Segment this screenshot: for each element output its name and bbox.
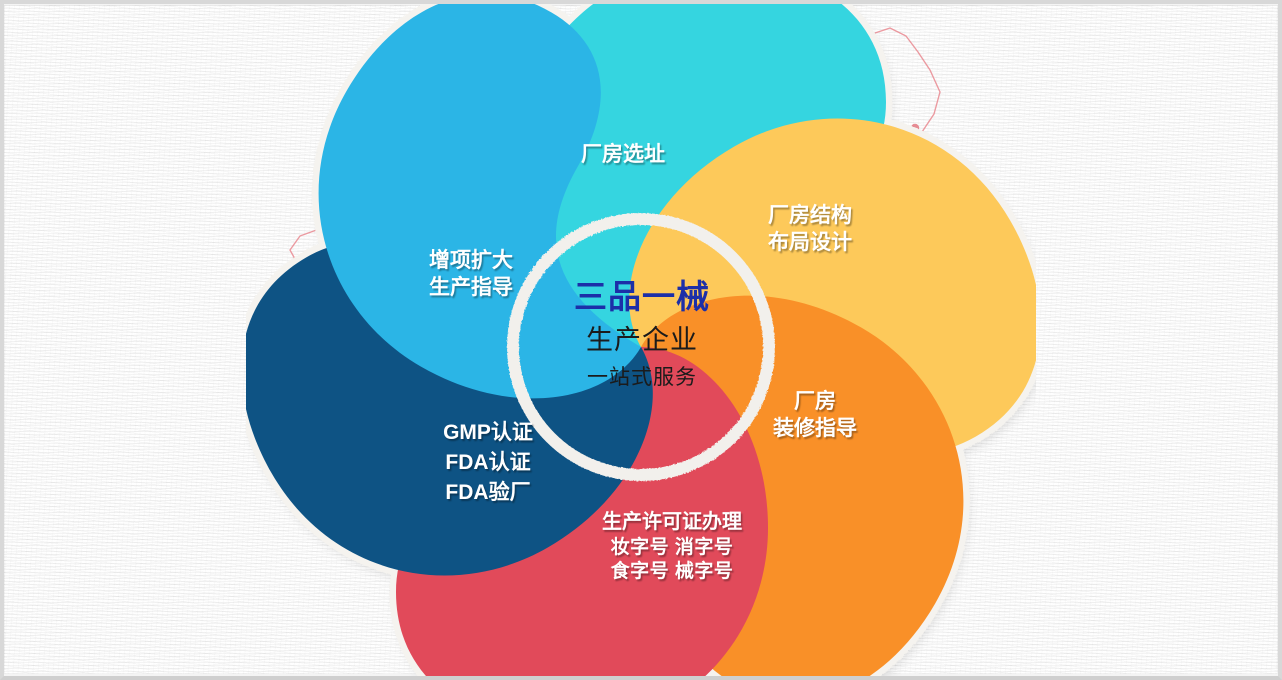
poster-canvas: 哈尔滨长春 沈阳北京 呼和浩特济南 郑州西安 南京合肥 武汉成都 长沙南昌 杭州… [0, 0, 1282, 680]
petal-group [246, 0, 1036, 680]
pinwheel-diagram [246, 0, 1036, 680]
pinwheel-svg [246, 0, 1036, 680]
